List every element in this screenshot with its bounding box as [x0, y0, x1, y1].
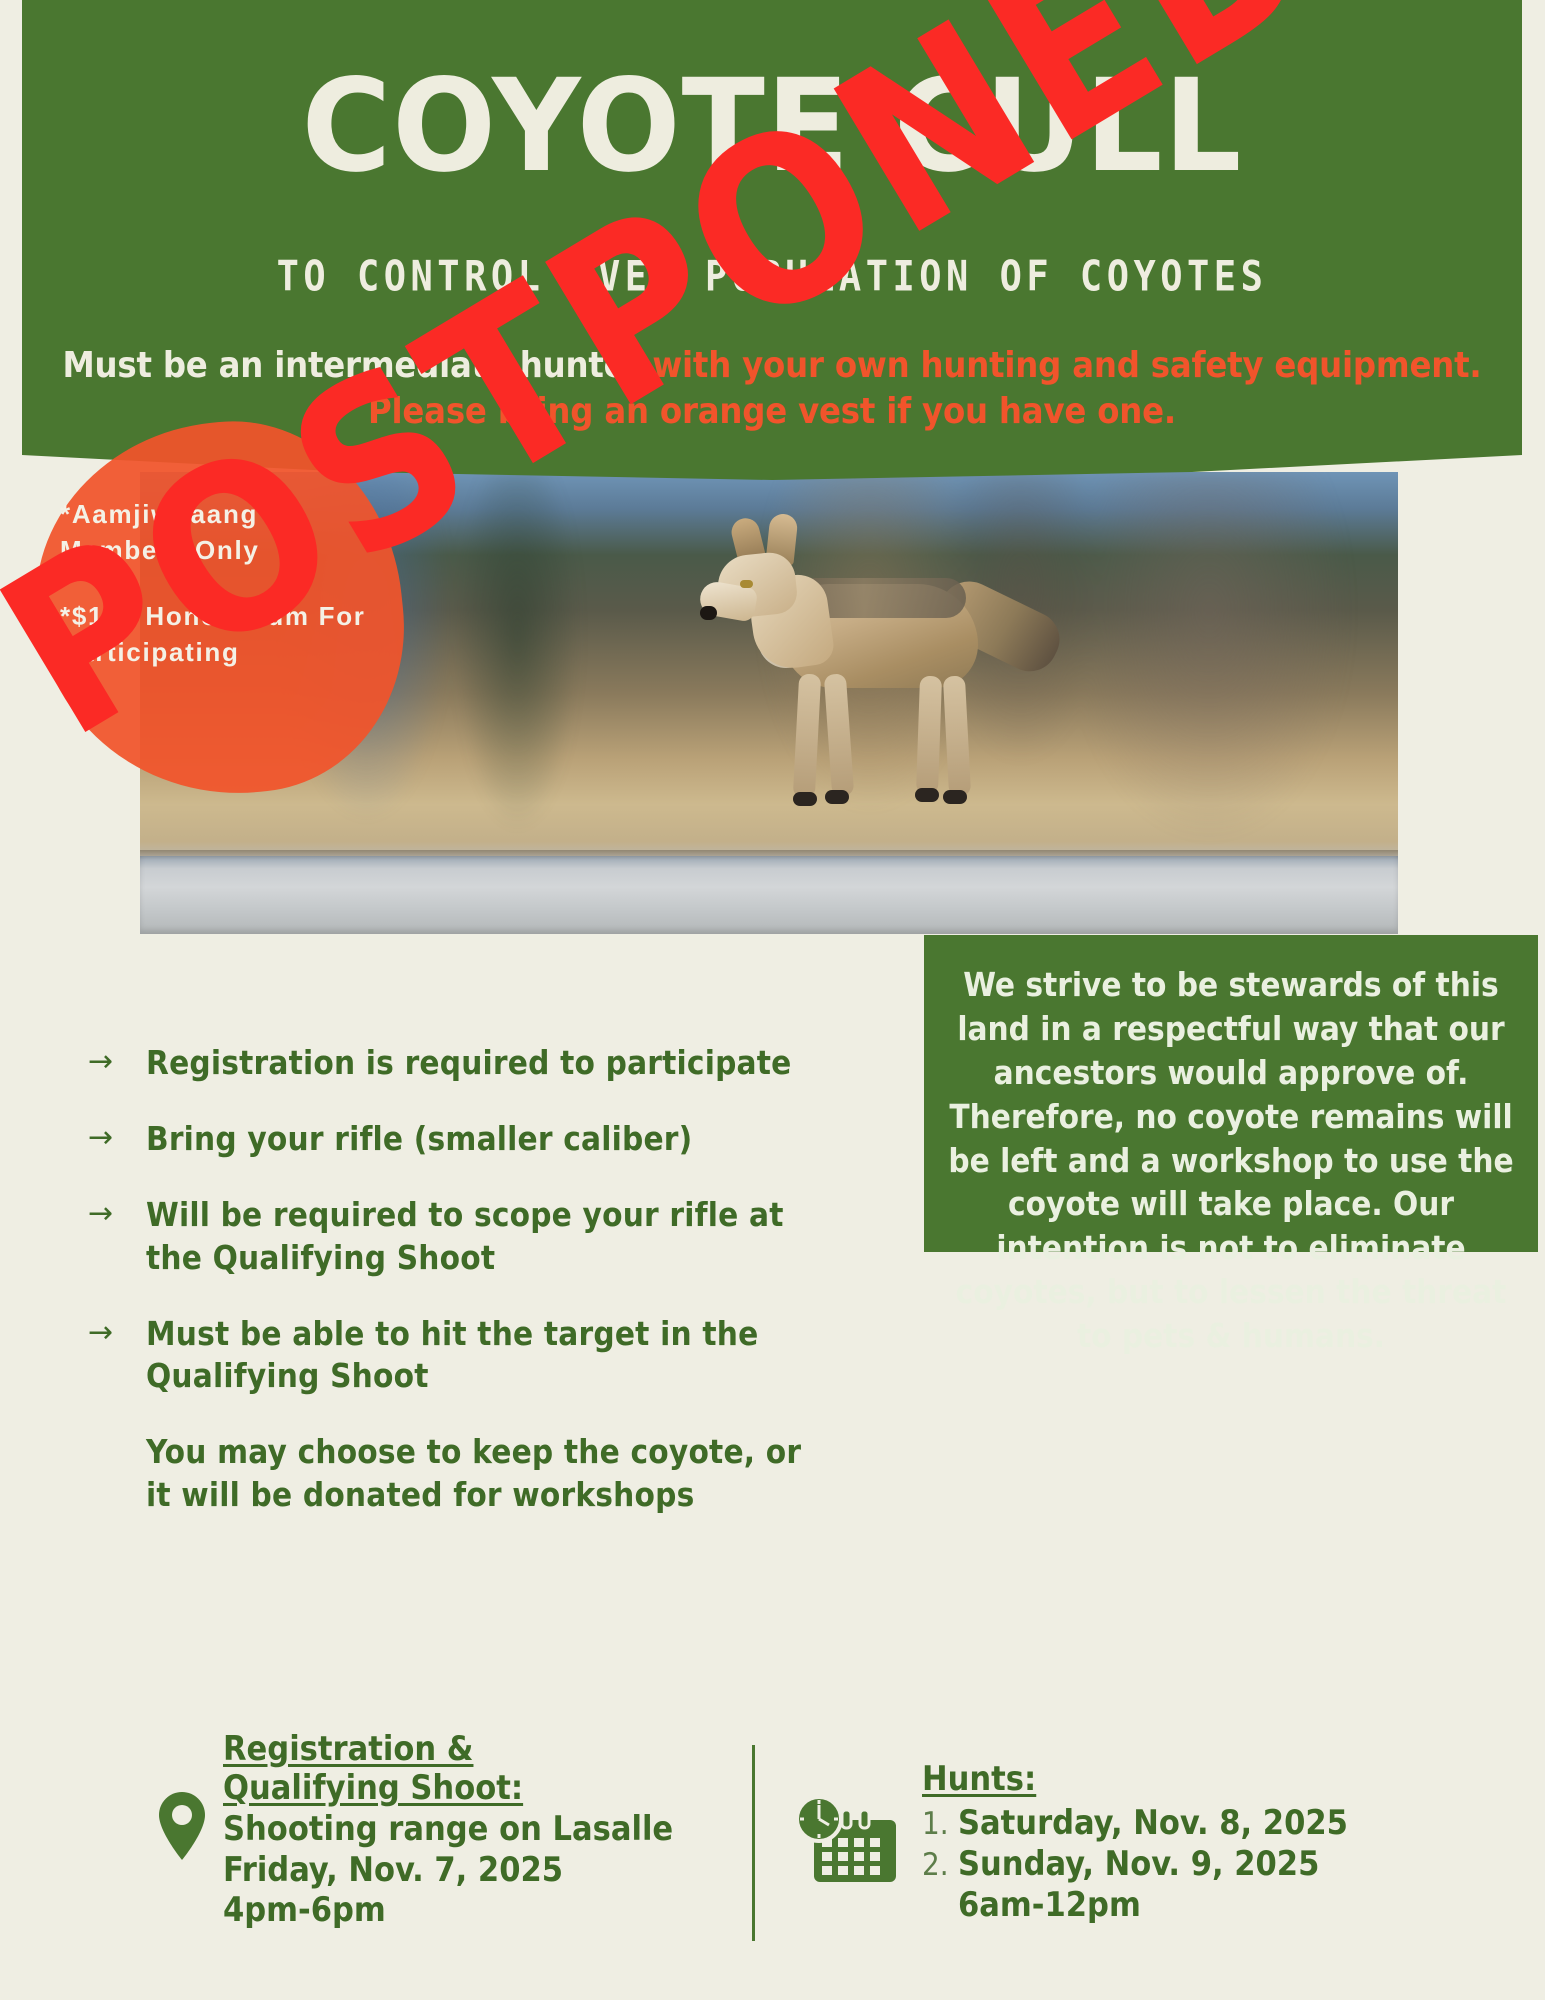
requirement-line-1: Must be an intermediate hunter with your… [62, 343, 1482, 389]
coyote-paw-front-2 [825, 790, 849, 804]
registration-date: Friday, Nov. 7, 2025 [223, 1850, 673, 1891]
list-item-label: Registration is required to participate [146, 1042, 792, 1084]
requirement-white-text: Must be an intermediate hunter [62, 345, 641, 386]
page-subtitle: TO CONTROL OVER POPULATION OF COYOTES [22, 252, 1522, 300]
registration-location: Shooting range on Lasalle [223, 1809, 673, 1850]
hunts-heading: Hunts: [922, 1760, 1348, 1799]
coyote-illustration [700, 492, 1100, 872]
registration-text: Registration & Qualifying Shoot: Shootin… [223, 1730, 673, 1931]
coyote-leg-front-1 [793, 674, 821, 799]
blob-note-honorarium: *$100 Honorarium For Participating [60, 599, 390, 671]
hunt-item-number: 2. [922, 1847, 958, 1883]
hunt-item-label: Sunday, Nov. 9, 2025 [958, 1844, 1319, 1885]
list-item: → Bring your rifle (smaller caliber) [88, 1118, 828, 1160]
arrow-right-icon: → [88, 1042, 146, 1080]
footer-divider [752, 1745, 755, 1941]
coyote-eye [740, 580, 753, 588]
registration-block: Registration & Qualifying Shoot: Shootin… [155, 1730, 673, 1931]
coyote-leg-rear-1 [916, 676, 942, 795]
location-pin-icon [155, 1790, 209, 1862]
header-banner: COYOTE CULL TO CONTROL OVER POPULATION O… [22, 0, 1522, 480]
requirement-orange-text: with your own hunting and safety equipme… [652, 345, 1481, 386]
requirements-block: Must be an intermediate hunter with your… [62, 343, 1482, 435]
list-item-label: You may choose to keep the coyote, or it… [146, 1431, 828, 1515]
hunts-time: 6am-12pm [958, 1885, 1348, 1926]
blob-notes: *Aamjiwnaang Members Only *$100 Honorari… [60, 497, 390, 671]
arrow-right-icon: → [88, 1118, 146, 1156]
blob-note-members: *Aamjiwnaang Members Only [60, 497, 390, 569]
stewardship-statement-box: We strive to be stewards of this land in… [924, 935, 1538, 1252]
list-item: → You may choose to keep the coyote, or … [88, 1431, 828, 1515]
coyote-leg-rear-2 [943, 676, 971, 797]
hunts-text: Hunts: 1. Saturday, Nov. 8, 2025 2. Sund… [922, 1760, 1348, 1926]
list-item: 2. Sunday, Nov. 9, 2025 [922, 1844, 1348, 1885]
list-item-label: Will be required to scope your rifle at … [146, 1194, 828, 1278]
list-item-label: Must be able to hit the target in the Qu… [146, 1313, 828, 1397]
hunt-item-label: Saturday, Nov. 8, 2025 [958, 1803, 1348, 1844]
calendar-clock-icon [790, 1794, 908, 1886]
hunts-block: Hunts: 1. Saturday, Nov. 8, 2025 2. Sund… [790, 1760, 1348, 1926]
stewardship-statement-text: We strive to be stewards of this land in… [946, 963, 1516, 1358]
requirements-bullet-list: → Registration is required to participat… [88, 1042, 828, 1550]
list-item-label: Bring your rifle (smaller caliber) [146, 1118, 692, 1160]
page-title: COYOTE CULL [0, 62, 1545, 193]
coyote-leg-front-2 [824, 673, 854, 796]
list-item: 1. Saturday, Nov. 8, 2025 [922, 1803, 1348, 1844]
coyote-paw-rear-1 [915, 788, 939, 802]
arrow-right-icon: → [88, 1313, 146, 1351]
list-item: → Must be able to hit the target in the … [88, 1313, 828, 1397]
hunt-item-number: 1. [922, 1806, 958, 1842]
registration-time: 4pm-6pm [223, 1890, 673, 1931]
coyote-paw-rear-2 [943, 790, 967, 804]
arrow-right-icon: → [88, 1194, 146, 1232]
hunts-list: 1. Saturday, Nov. 8, 2025 2. Sunday, Nov… [922, 1803, 1348, 1885]
coyote-nose [700, 606, 717, 620]
list-item: → Registration is required to participat… [88, 1042, 828, 1084]
registration-heading-line2: Qualifying Shoot: [223, 1769, 673, 1808]
coyote-paw-front-1 [793, 792, 817, 806]
poster-root: COYOTE CULL TO CONTROL OVER POPULATION O… [0, 0, 1545, 2000]
list-item: → Will be required to scope your rifle a… [88, 1194, 828, 1278]
registration-heading-line1: Registration & [223, 1730, 673, 1769]
